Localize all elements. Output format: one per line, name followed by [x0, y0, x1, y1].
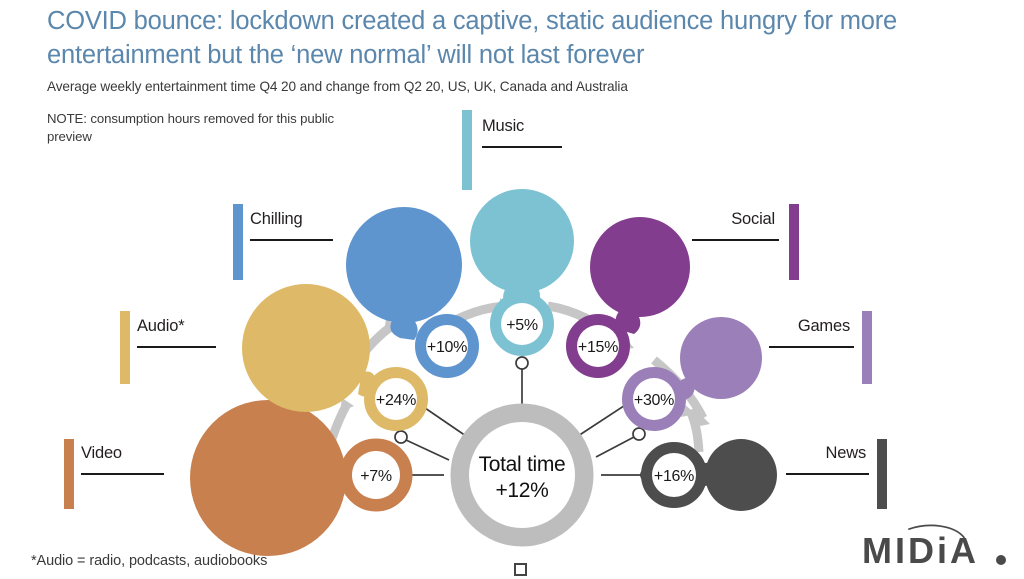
callout-bar-social	[789, 204, 799, 280]
callout-label-social: Social	[731, 210, 775, 228]
pct-video: +7%	[360, 468, 392, 485]
bubble-video	[190, 400, 346, 556]
total-time-label: Total time	[479, 453, 566, 476]
bubble-music	[470, 189, 574, 293]
pct-music: +5%	[506, 317, 538, 334]
callout-bar-news	[877, 439, 887, 509]
bubble-diagram: +7% +24% +10% +5%	[0, 0, 1024, 579]
spoke-dot-games	[633, 428, 645, 440]
logo-wordmark: MIDiA	[862, 530, 979, 569]
callout-label-news: News	[826, 444, 866, 462]
bubble-social	[590, 217, 690, 317]
callout-bar-audio	[120, 311, 130, 384]
callout-bar-music	[462, 110, 472, 190]
callout-label-music: Music	[482, 117, 524, 135]
callout-label-chilling: Chilling	[250, 210, 303, 228]
spoke-dot-music	[516, 357, 528, 369]
bubble-audio	[242, 284, 370, 412]
callout-bar-video	[64, 439, 74, 509]
total-time-value: +12%	[495, 479, 548, 502]
callout-bar-chilling	[233, 204, 243, 280]
callout-music[interactable]: Music	[462, 110, 562, 190]
callout-label-audio: Audio*	[137, 317, 185, 335]
callout-bar-games	[862, 311, 872, 384]
pct-games: +30%	[634, 392, 674, 409]
spoke-games	[596, 437, 634, 457]
callout-video[interactable]: Video	[64, 439, 164, 509]
callout-news[interactable]: News	[786, 439, 887, 509]
midia-logo: MIDiA	[862, 521, 1010, 569]
callout-social[interactable]: Social	[692, 204, 799, 280]
spoke-dot-audio	[395, 431, 407, 443]
pct-chilling: +10%	[427, 339, 467, 356]
pct-news: +16%	[654, 468, 694, 485]
callout-chilling[interactable]: Chilling	[233, 204, 333, 280]
bubble-group-news[interactable]: +16%	[647, 439, 777, 511]
bubble-group-music[interactable]: +5%	[470, 189, 574, 350]
pct-social: +15%	[578, 339, 618, 356]
bubble-group-social[interactable]: +15%	[572, 217, 690, 372]
slide-marker	[514, 563, 527, 576]
neck-chilling	[390, 318, 417, 340]
infographic-canvas: COVID bounce: lockdown created a captive…	[0, 0, 1024, 579]
logo-dot	[996, 555, 1006, 565]
spoke-audio	[406, 440, 449, 460]
bubble-group-video[interactable]: +7%	[190, 400, 406, 556]
bubble-news	[705, 439, 777, 511]
callout-games[interactable]: Games	[769, 311, 872, 384]
pct-audio: +24%	[376, 392, 416, 409]
callout-label-games: Games	[798, 317, 850, 335]
center-total-group[interactable]: Total time +12%	[460, 413, 584, 537]
callout-audio[interactable]: Audio*	[120, 311, 216, 384]
callout-label-video: Video	[81, 444, 122, 462]
bubble-chilling	[346, 207, 462, 323]
